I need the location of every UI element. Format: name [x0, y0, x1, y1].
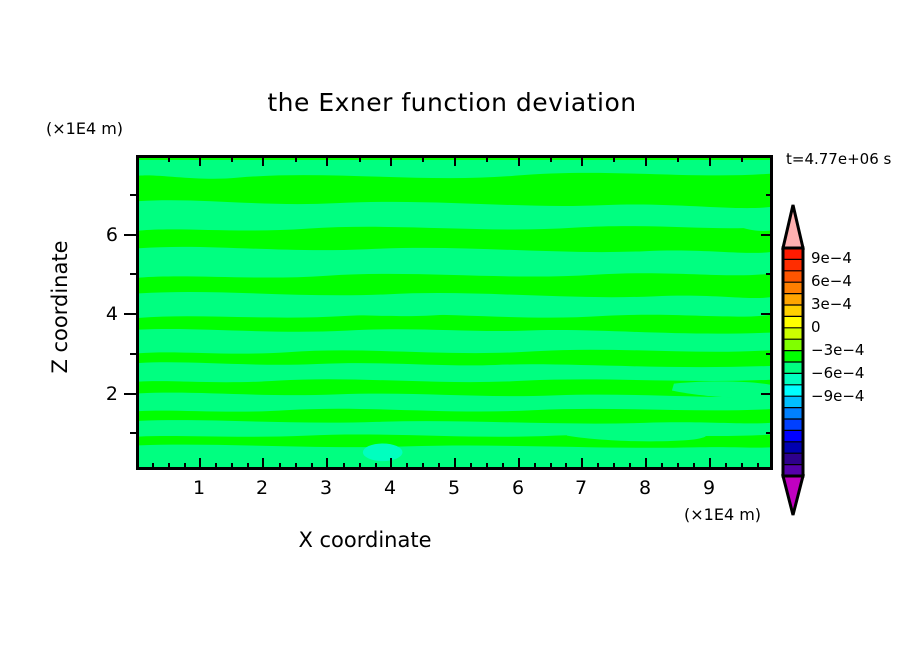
- x-top-major-tick: [709, 155, 711, 166]
- x-minor-tick: [295, 463, 297, 470]
- x-minor-tick: [757, 463, 759, 470]
- x-tick-label: 8: [625, 477, 665, 499]
- chart-title: the Exner function deviation: [0, 88, 904, 117]
- contour-field: [139, 158, 770, 467]
- x-top-major-tick: [390, 155, 392, 166]
- x-tick-label: 3: [306, 477, 346, 499]
- x-top-minor-tick: [741, 155, 743, 162]
- y-axis-unit-label: (×1E4 m): [46, 119, 123, 138]
- colorbar-band: [783, 316, 803, 328]
- colorbar-gradient: [781, 203, 805, 517]
- x-top-minor-tick: [359, 155, 361, 162]
- x-tick-label: 7: [561, 477, 601, 499]
- colorbar-band: [783, 271, 803, 283]
- colorbar-band: [783, 339, 803, 351]
- colorbar-tick-label: 6e−4: [811, 272, 852, 290]
- x-minor-tick: [486, 463, 488, 470]
- x-minor-tick: [311, 463, 313, 470]
- colorbar-band: [783, 373, 803, 385]
- x-top-major-tick: [454, 155, 456, 166]
- contour-plot-area: [136, 155, 773, 470]
- x-top-minor-tick: [168, 155, 170, 162]
- x-major-tick: [581, 458, 583, 470]
- x-major-tick: [262, 458, 264, 470]
- x-minor-tick: [629, 463, 631, 470]
- x-top-minor-tick: [295, 155, 297, 162]
- x-minor-tick: [597, 463, 599, 470]
- y-minor-tick: [130, 432, 137, 434]
- x-minor-tick: [677, 463, 679, 470]
- y-minor-tick: [130, 353, 137, 355]
- colorbar-band: [783, 430, 803, 442]
- y-axis-title: Z coordinate: [48, 217, 72, 397]
- colorbar-band: [783, 351, 803, 363]
- x-axis-unit-label: (×1E4 m): [684, 505, 761, 524]
- colorbar-band: [783, 282, 803, 294]
- x-minor-tick: [550, 463, 552, 470]
- colorbar-tick-label: −9e−4: [811, 387, 864, 405]
- x-tick-label: 2: [242, 477, 282, 499]
- y-tick-label: 4: [88, 303, 118, 325]
- x-minor-tick: [152, 463, 154, 470]
- x-major-tick: [390, 458, 392, 470]
- x-top-minor-tick: [613, 155, 615, 162]
- colorbar-band: [783, 248, 803, 260]
- x-minor-tick: [279, 463, 281, 470]
- x-major-tick: [518, 458, 520, 470]
- y-tick-label: 6: [88, 224, 118, 246]
- x-minor-tick: [534, 463, 536, 470]
- y-tick-label: 2: [88, 383, 118, 405]
- x-axis-title: X coordinate: [0, 528, 730, 552]
- colorbar-band: [783, 453, 803, 465]
- colorbar-band: [783, 305, 803, 317]
- y-minor-tick: [130, 273, 137, 275]
- x-major-tick: [645, 458, 647, 470]
- x-tick-label: 5: [434, 477, 474, 499]
- x-top-major-tick: [581, 155, 583, 166]
- colorbar-band: [783, 294, 803, 306]
- x-minor-tick: [343, 463, 345, 470]
- x-minor-tick: [438, 463, 440, 470]
- colorbar-band: [783, 259, 803, 271]
- x-top-major-tick: [262, 155, 264, 166]
- x-minor-tick: [470, 463, 472, 470]
- colorbar-tick-label: 3e−4: [811, 295, 852, 313]
- colorbar-tick-label: −6e−4: [811, 364, 864, 382]
- x-minor-tick: [168, 463, 170, 470]
- x-minor-tick: [184, 463, 186, 470]
- x-minor-tick: [406, 463, 408, 470]
- y-major-tick: [124, 234, 137, 236]
- x-tick-label: 1: [179, 477, 219, 499]
- colorbar: [781, 203, 805, 517]
- y-major-tick: [124, 313, 137, 315]
- x-top-major-tick: [199, 155, 201, 166]
- x-top-minor-tick: [486, 155, 488, 162]
- y-right-minor-tick: [766, 194, 773, 196]
- x-minor-tick: [215, 463, 217, 470]
- x-minor-tick: [661, 463, 663, 470]
- x-tick-label: 9: [689, 477, 729, 499]
- x-major-tick: [326, 458, 328, 470]
- x-minor-tick: [247, 463, 249, 470]
- colorbar-band: [783, 408, 803, 420]
- x-minor-tick: [741, 463, 743, 470]
- y-right-minor-tick: [766, 273, 773, 275]
- y-major-tick: [124, 393, 137, 395]
- colorbar-band: [783, 328, 803, 340]
- x-top-major-tick: [645, 155, 647, 166]
- colorbar-tick-label: 0: [811, 318, 821, 336]
- x-top-major-tick: [518, 155, 520, 166]
- x-minor-tick: [422, 463, 424, 470]
- x-tick-label: 4: [370, 477, 410, 499]
- colorbar-band: [783, 396, 803, 408]
- colorbar-tick-label: −3e−4: [811, 341, 864, 359]
- colorbar-band: [783, 419, 803, 431]
- timestamp-annotation: t=4.77e+06 s: [786, 150, 891, 168]
- colorbar-band: [783, 442, 803, 454]
- y-right-minor-tick: [766, 353, 773, 355]
- x-major-tick: [709, 458, 711, 470]
- x-minor-tick: [725, 463, 727, 470]
- x-minor-tick: [359, 463, 361, 470]
- x-top-minor-tick: [231, 155, 233, 162]
- x-top-minor-tick: [550, 155, 552, 162]
- y-right-minor-tick: [766, 432, 773, 434]
- y-right-major-tick: [761, 393, 773, 395]
- x-top-minor-tick: [677, 155, 679, 162]
- colorbar-band: [783, 362, 803, 374]
- y-right-major-tick: [761, 234, 773, 236]
- colorbar-tick-label: 9e−4: [811, 249, 852, 267]
- x-major-tick: [199, 458, 201, 470]
- x-minor-tick: [565, 463, 567, 470]
- y-minor-tick: [130, 194, 137, 196]
- x-minor-tick: [375, 463, 377, 470]
- figure-canvas: the Exner function deviation (×1E4 m) (×…: [0, 0, 904, 654]
- x-minor-tick: [613, 463, 615, 470]
- x-minor-tick: [693, 463, 695, 470]
- x-top-minor-tick: [422, 155, 424, 162]
- x-major-tick: [454, 458, 456, 470]
- x-minor-tick: [502, 463, 504, 470]
- x-minor-tick: [231, 463, 233, 470]
- x-tick-label: 6: [498, 477, 538, 499]
- colorbar-band: [783, 385, 803, 397]
- y-right-major-tick: [761, 313, 773, 315]
- x-top-major-tick: [326, 155, 328, 166]
